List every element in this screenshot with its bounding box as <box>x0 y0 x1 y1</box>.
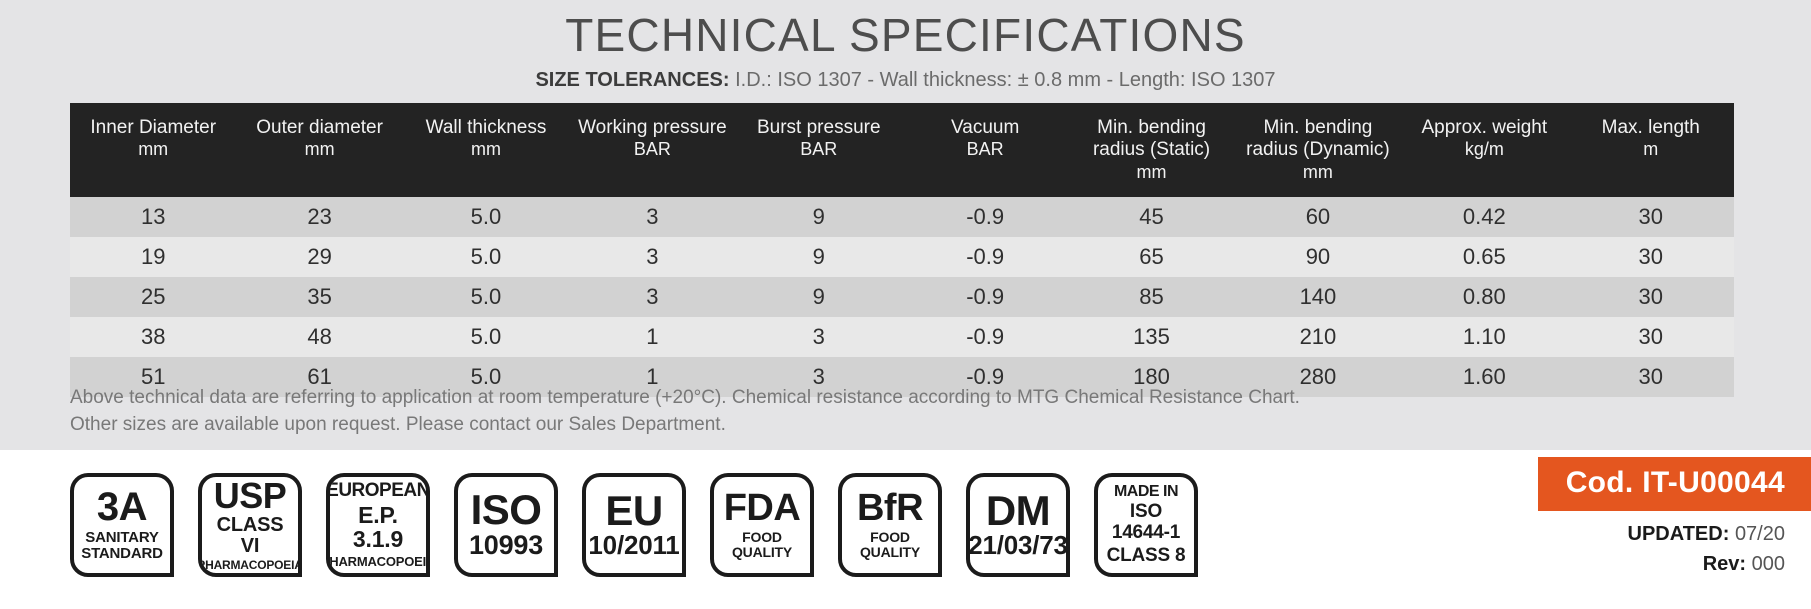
cell-inner-diameter: 38 <box>70 317 236 357</box>
certification-badges: 3A SANITARY STANDARD USP CLASS VI PHARMA… <box>70 473 1198 577</box>
column-header-unit: BAR <box>740 139 898 160</box>
cell-bending-dynamic: 140 <box>1235 277 1401 317</box>
badge-iso-10993: ISO 10993 <box>454 473 558 577</box>
revision-info: UPDATED: 07/20 Rev: 000 <box>1628 519 1785 579</box>
badge-line-1: USP <box>214 479 287 514</box>
column-header-unit: kg/m <box>1405 139 1563 160</box>
badge-line-3: PHARMACOPOEIA <box>326 555 430 569</box>
column-header-unit: BAR <box>573 139 731 160</box>
cell-vacuum: -0.9 <box>902 317 1068 357</box>
badge-line-1: MADE IN <box>1114 484 1178 499</box>
cell-max-length: 30 <box>1568 197 1734 237</box>
column-header-unit: m <box>1572 139 1730 160</box>
cell-bending-dynamic: 210 <box>1235 317 1401 357</box>
badge-line-3: CLASS 8 <box>1107 546 1186 566</box>
column-header-unit: mm <box>1072 162 1230 183</box>
cell-max-length: 30 <box>1568 357 1734 397</box>
column-header-burst-pressure: Burst pressure BAR <box>736 103 902 197</box>
cell-vacuum: -0.9 <box>902 197 1068 237</box>
cell-approx-weight: 0.42 <box>1401 197 1567 237</box>
column-header-label: Vacuum <box>951 117 1019 138</box>
badge-line-1: EUROPEAN <box>326 482 430 500</box>
column-header-unit: mm <box>1239 162 1397 183</box>
cell-bending-static: 135 <box>1068 317 1234 357</box>
lower-panel: 3A SANITARY STANDARD USP CLASS VI PHARMA… <box>0 450 1811 609</box>
cell-outer-diameter: 35 <box>236 277 402 317</box>
badge-fda-food-quality: FDA FOOD QUALITY <box>710 473 814 577</box>
column-header-label: Inner Diameter <box>90 117 216 138</box>
cell-working-pressure: 3 <box>569 197 735 237</box>
badge-line-3: STANDARD <box>81 546 162 562</box>
badge-line-2: 21/03/73 <box>968 532 1068 560</box>
badge-line-1: EU <box>605 491 662 531</box>
column-header-label: Working pressure <box>578 117 727 138</box>
size-tolerances-label: SIZE TOLERANCES: <box>535 69 729 91</box>
table-row: 19 29 5.0 3 9 -0.9 65 90 0.65 30 <box>70 237 1734 277</box>
table-header-row: Inner Diameter mm Outer diameter mm Wall… <box>70 103 1734 197</box>
cell-max-length: 30 <box>1568 277 1734 317</box>
updated-value: 07/20 <box>1735 523 1785 545</box>
badge-usp-class-vi: USP CLASS VI PHARMACOPOEIA <box>198 473 302 577</box>
spec-table: Inner Diameter mm Outer diameter mm Wall… <box>70 103 1734 397</box>
cell-wall-thickness: 5.0 <box>403 317 569 357</box>
badge-line-2: E.P. 3.1.9 <box>333 503 423 552</box>
cell-approx-weight: 0.80 <box>1401 277 1567 317</box>
cell-working-pressure: 1 <box>569 317 735 357</box>
cell-vacuum: -0.9 <box>902 237 1068 277</box>
spec-table-body: 13 23 5.0 3 9 -0.9 45 60 0.42 30 19 29 <box>70 197 1734 397</box>
column-header-label: Max. length <box>1602 117 1700 138</box>
badge-european-pharmacopoeia: EUROPEAN E.P. 3.1.9 PHARMACOPOEIA <box>326 473 430 577</box>
cell-max-length: 30 <box>1568 317 1734 357</box>
badge-made-in-iso-14644-1-class-8: MADE IN ISO 14644-1 CLASS 8 <box>1094 473 1198 577</box>
cell-inner-diameter: 25 <box>70 277 236 317</box>
column-header-label: Min. bending radius (Static) <box>1093 117 1210 160</box>
badge-line-2: FOOD QUALITY <box>845 530 935 560</box>
badge-line-2: FOOD QUALITY <box>717 530 807 560</box>
column-header-min-bending-radius-static: Min. bending radius (Static) mm <box>1068 103 1234 197</box>
cell-bending-static: 45 <box>1068 197 1234 237</box>
badge-bfr-food-quality: BfR FOOD QUALITY <box>838 473 942 577</box>
column-header-label: Outer diameter <box>256 117 383 138</box>
column-header-unit: mm <box>407 139 565 160</box>
updated-line: UPDATED: 07/20 <box>1628 519 1785 549</box>
badge-3a-sanitary-standard: 3A SANITARY STANDARD <box>70 473 174 577</box>
badge-line-3: PHARMACOPOEIA <box>198 559 302 572</box>
cell-burst-pressure: 9 <box>736 237 902 277</box>
rev-label: Rev: <box>1703 553 1746 575</box>
badge-line-2: SANITARY <box>85 530 158 546</box>
updated-label: UPDATED: <box>1628 523 1730 545</box>
size-tolerances-value: I.D.: ISO 1307 - Wall thickness: ± 0.8 m… <box>730 69 1276 91</box>
cell-vacuum: -0.9 <box>902 277 1068 317</box>
upper-panel: TECHNICAL SPECIFICATIONS SIZE TOLERANCES… <box>0 0 1811 450</box>
column-header-working-pressure: Working pressure BAR <box>569 103 735 197</box>
cell-outer-diameter: 23 <box>236 197 402 237</box>
badge-line-1: FDA <box>724 490 801 526</box>
cell-working-pressure: 3 <box>569 277 735 317</box>
rev-line: Rev: 000 <box>1628 549 1785 579</box>
cell-burst-pressure: 9 <box>736 277 902 317</box>
column-header-unit: BAR <box>906 139 1064 160</box>
column-header-vacuum: Vacuum BAR <box>902 103 1068 197</box>
cell-burst-pressure: 9 <box>736 197 902 237</box>
size-tolerances-line: SIZE TOLERANCES: I.D.: ISO 1307 - Wall t… <box>0 68 1811 92</box>
spec-sheet: TECHNICAL SPECIFICATIONS SIZE TOLERANCES… <box>0 0 1811 609</box>
cell-bending-dynamic: 60 <box>1235 197 1401 237</box>
badge-line-2: ISO 14644-1 <box>1101 502 1191 542</box>
product-code-badge: Cod. IT-U00044 <box>1538 457 1811 511</box>
table-row: 38 48 5.0 1 3 -0.9 135 210 1.10 30 <box>70 317 1734 357</box>
column-header-outer-diameter: Outer diameter mm <box>236 103 402 197</box>
column-header-max-length: Max. length m <box>1568 103 1734 197</box>
cell-working-pressure: 3 <box>569 237 735 277</box>
cell-approx-weight: 0.65 <box>1401 237 1567 277</box>
cell-wall-thickness: 5.0 <box>403 237 569 277</box>
spec-table-head: Inner Diameter mm Outer diameter mm Wall… <box>70 103 1734 197</box>
badge-line-1: 3A <box>97 488 147 526</box>
table-row: 25 35 5.0 3 9 -0.9 85 140 0.80 30 <box>70 277 1734 317</box>
footnote-line-2: Other sizes are available upon request. … <box>70 412 1470 439</box>
badge-line-2: 10/2011 <box>588 532 679 560</box>
footnote-line-1: Above technical data are referring to ap… <box>70 385 1470 412</box>
cell-bending-static: 65 <box>1068 237 1234 277</box>
cell-burst-pressure: 3 <box>736 317 902 357</box>
column-header-inner-diameter: Inner Diameter mm <box>70 103 236 197</box>
badge-eu-10-2011: EU 10/2011 <box>582 473 686 577</box>
cell-approx-weight: 1.10 <box>1401 317 1567 357</box>
column-header-unit: mm <box>74 139 232 160</box>
column-header-label: Wall thickness <box>426 117 547 138</box>
spec-table-container: Inner Diameter mm Outer diameter mm Wall… <box>70 103 1734 397</box>
footnote: Above technical data are referring to ap… <box>70 385 1470 439</box>
cell-bending-static: 85 <box>1068 277 1234 317</box>
badge-line-1: BfR <box>857 490 923 526</box>
badge-line-2: CLASS VI <box>205 515 295 557</box>
column-header-label: Min. bending radius (Dynamic) <box>1246 117 1390 160</box>
column-header-label: Approx. weight <box>1421 117 1547 138</box>
cell-wall-thickness: 5.0 <box>403 197 569 237</box>
badge-line-1: DM <box>986 491 1050 531</box>
column-header-approx-weight: Approx. weight kg/m <box>1401 103 1567 197</box>
cell-inner-diameter: 19 <box>70 237 236 277</box>
cell-max-length: 30 <box>1568 237 1734 277</box>
badge-line-2: 10993 <box>469 531 543 560</box>
cell-outer-diameter: 29 <box>236 237 402 277</box>
column-header-min-bending-radius-dynamic: Min. bending radius (Dynamic) mm <box>1235 103 1401 197</box>
cell-wall-thickness: 5.0 <box>403 277 569 317</box>
column-header-wall-thickness: Wall thickness mm <box>403 103 569 197</box>
cell-bending-dynamic: 90 <box>1235 237 1401 277</box>
column-header-unit: mm <box>240 139 398 160</box>
cell-inner-diameter: 13 <box>70 197 236 237</box>
badge-dm-21-03-73: DM 21/03/73 <box>966 473 1070 577</box>
page-title: TECHNICAL SPECIFICATIONS <box>0 8 1811 62</box>
table-row: 13 23 5.0 3 9 -0.9 45 60 0.42 30 <box>70 197 1734 237</box>
badge-line-1: ISO <box>471 490 542 530</box>
column-header-label: Burst pressure <box>757 117 881 138</box>
cell-outer-diameter: 48 <box>236 317 402 357</box>
rev-value: 000 <box>1752 553 1785 575</box>
